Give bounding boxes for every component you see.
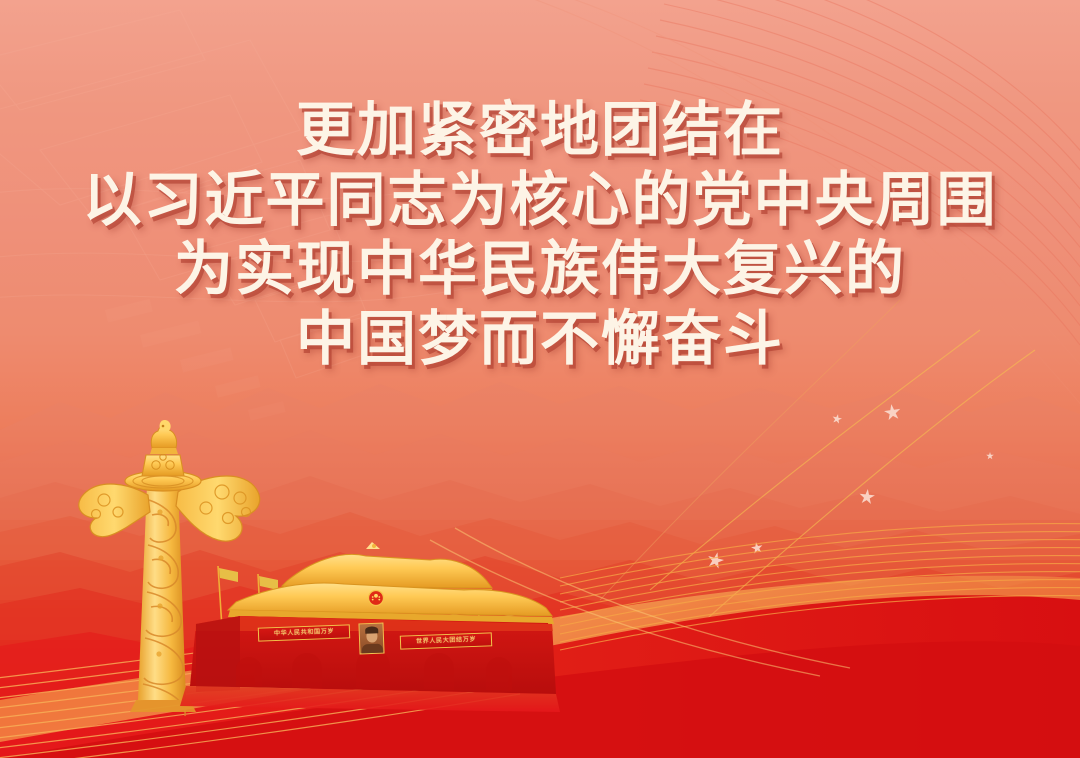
- tiananmen-monument-illustration: [0, 0, 1080, 758]
- huabiao-lion-statue: [150, 420, 178, 454]
- portrait-body: [361, 644, 382, 655]
- flag-left: [219, 568, 238, 582]
- huabiao-shaft: [138, 485, 186, 700]
- poster-canvas: 中华人民共和国万岁 世界人民大团结万岁 更加紧密地团结在 以习近平同志为核心的党…: [0, 0, 1080, 758]
- flag-right: [259, 576, 278, 590]
- national-emblem: [369, 591, 384, 606]
- huabiao-capital: [142, 455, 184, 476]
- portrait-hair: [365, 626, 378, 633]
- gate-wall-left-face: [196, 616, 240, 692]
- chairman-portrait: [358, 623, 384, 655]
